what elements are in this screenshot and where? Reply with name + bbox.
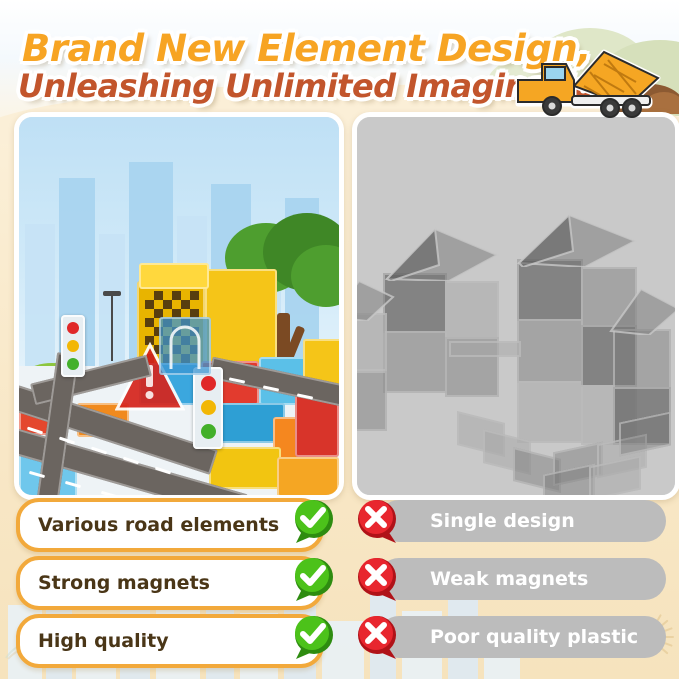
promo-graphic: Brand New Element Design, Unleashing Unl… [0, 0, 679, 679]
list-item[interactable]: Poor quality plastic [356, 614, 666, 660]
con-pill-1[interactable]: Single design [378, 500, 666, 542]
list-item[interactable]: High quality [16, 614, 334, 660]
cross-icon [354, 497, 402, 545]
check-icon [290, 555, 338, 603]
con-label-3: Poor quality plastic [430, 626, 638, 648]
traffic-light-icon-1 [61, 315, 85, 377]
con-label-2: Weak magnets [430, 568, 588, 590]
competitor-product-photo [352, 112, 679, 500]
comparison-list: Various road elements Strong magnets [0, 498, 679, 678]
check-icon [290, 497, 338, 545]
cons-column: Single design Weak magnets [356, 498, 666, 672]
check-icon [290, 613, 338, 661]
list-item[interactable]: Weak magnets [356, 556, 666, 602]
dump-truck-icon [512, 46, 662, 118]
con-label-1: Single design [430, 510, 575, 532]
pro-pill-1[interactable]: Various road elements [16, 498, 324, 552]
pro-label-1: Various road elements [38, 514, 279, 536]
list-item[interactable]: Various road elements [16, 498, 334, 544]
list-item[interactable]: Strong magnets [16, 556, 334, 602]
our-product-photo [14, 112, 344, 500]
traffic-light-icon-2 [193, 367, 223, 449]
pro-label-2: Strong magnets [38, 572, 210, 594]
con-pill-3[interactable]: Poor quality plastic [378, 616, 666, 658]
list-item[interactable]: Single design [356, 498, 666, 544]
pros-column: Various road elements Strong magnets [16, 498, 334, 672]
pro-label-3: High quality [38, 630, 169, 652]
cross-icon [354, 613, 402, 661]
pro-pill-3[interactable]: High quality [16, 614, 324, 668]
con-pill-2[interactable]: Weak magnets [378, 558, 666, 600]
pro-pill-2[interactable]: Strong magnets [16, 556, 324, 610]
cross-icon [354, 555, 402, 603]
